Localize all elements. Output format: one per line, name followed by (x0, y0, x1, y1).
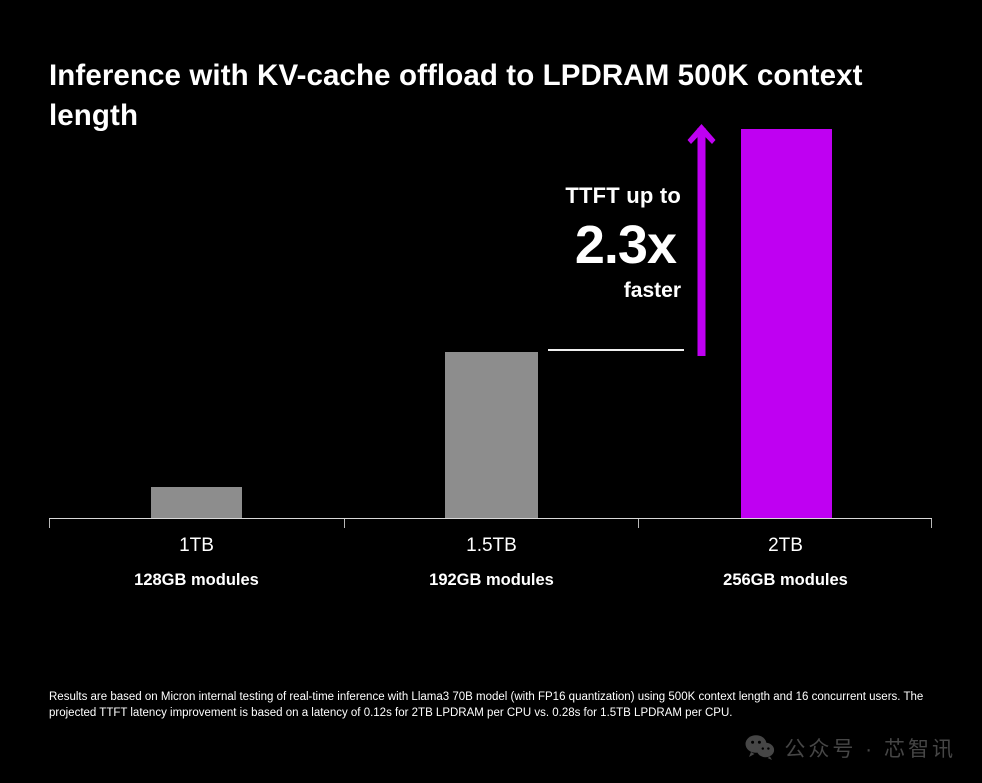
x-axis-label-0: 1TB (49, 533, 344, 559)
bar-2tb (741, 129, 832, 519)
callout-top-label: TTFT up to (565, 183, 681, 208)
x-axis-sublabel-0: 128GB modules (49, 569, 344, 591)
x-axis-sublabel-2: 256GB modules (638, 569, 933, 591)
x-axis-label-2: 2TB (638, 533, 933, 559)
slide-canvas: Inference with KV-cache offload to LPDRA… (0, 0, 982, 783)
bar-1-5tb (445, 352, 538, 519)
footnote-text: Results are based on Micron internal tes… (49, 689, 939, 721)
x-axis-sublabel-1: 192GB modules (344, 569, 639, 591)
callout-value: 2.3x (466, 216, 676, 274)
watermark-label: 公众号 · 芯智讯 (784, 738, 956, 762)
arrow-up-icon (686, 122, 717, 356)
x-axis-tick-0 (49, 519, 50, 528)
reference-leader-line (548, 349, 684, 351)
wechat-icon (745, 735, 775, 765)
bar-1tb (151, 487, 242, 519)
x-axis-line (49, 518, 932, 519)
chart-plot-area (49, 110, 932, 519)
callout-bottom-label: faster (466, 278, 681, 304)
x-axis-label-group-0: 1TB 128GB modules (49, 533, 344, 591)
x-axis-tick-1 (344, 519, 345, 528)
x-axis-label-group-1: 1.5TB 192GB modules (344, 533, 639, 591)
ttft-callout: TTFT up to 2.3x faster (466, 182, 681, 304)
x-axis-label-1: 1.5TB (344, 533, 639, 559)
watermark: 公众号 · 芯智讯 (745, 735, 956, 765)
x-axis-tick-3 (931, 519, 932, 528)
x-axis-tick-2 (638, 519, 639, 528)
x-axis-label-group-2: 2TB 256GB modules (638, 533, 933, 591)
